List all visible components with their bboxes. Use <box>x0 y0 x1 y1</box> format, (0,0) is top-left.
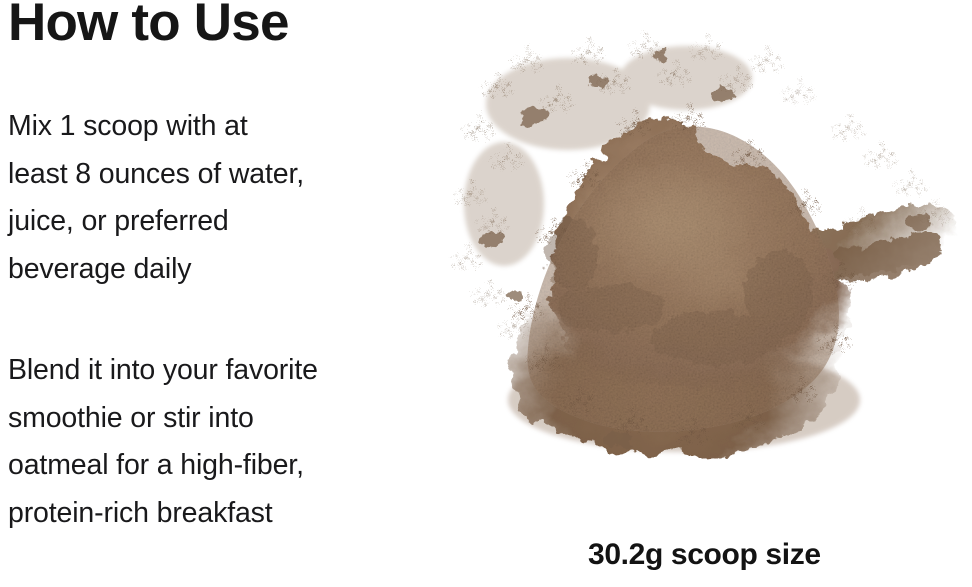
protein-powder-pile-image <box>448 8 972 500</box>
powder-illustration <box>448 8 972 500</box>
instruction-paragraph-1: Mix 1 scoop with at least 8 ounces of wa… <box>8 103 438 293</box>
product-image-column: 30.2g scoop size <box>448 0 972 587</box>
instruction-line: beverage daily <box>8 246 438 294</box>
instruction-line: Mix 1 scoop with at <box>8 103 438 151</box>
page-title: How to Use <box>8 0 289 51</box>
scoop-size-caption: 30.2g scoop size <box>588 538 821 572</box>
instruction-line: smoothie or stir into <box>8 395 438 443</box>
instructions-column: How to Use Mix 1 scoop with at least 8 o… <box>8 0 448 587</box>
how-to-use-panel: How to Use Mix 1 scoop with at least 8 o… <box>0 0 972 587</box>
instruction-line: protein-rich breakfast <box>8 490 438 538</box>
instruction-line: least 8 ounces of water, <box>8 151 438 199</box>
instruction-paragraph-2: Blend it into your favorite smoothie or … <box>8 347 438 537</box>
powder-mound <box>508 117 860 455</box>
instruction-line: Blend it into your favorite <box>8 347 438 395</box>
instruction-line: oatmeal for a high-fiber, <box>8 442 438 490</box>
instruction-line: juice, or preferred <box>8 198 438 246</box>
